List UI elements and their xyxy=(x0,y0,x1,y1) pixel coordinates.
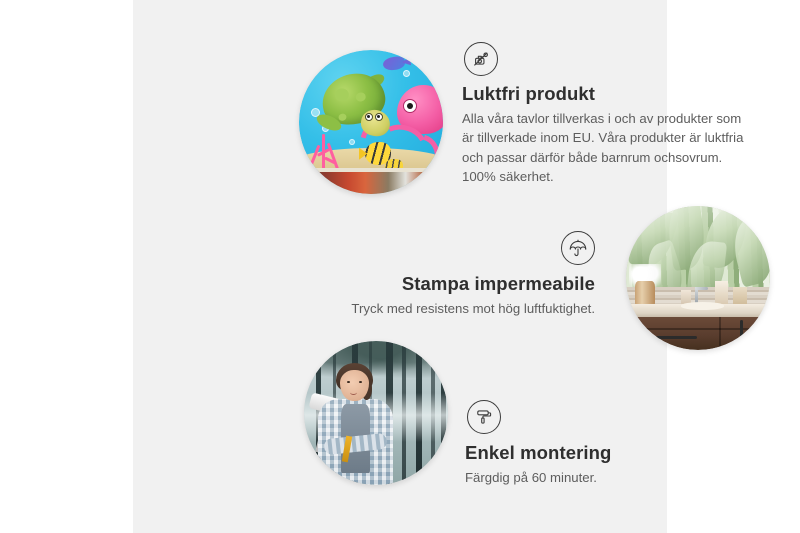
door-handle xyxy=(740,320,743,340)
umbrella-icon xyxy=(561,231,595,265)
icon-row xyxy=(323,231,595,265)
paint-roller-icon xyxy=(467,400,501,434)
tree-canopy xyxy=(304,341,448,378)
drawer-handle xyxy=(656,336,697,339)
feature-description: Tryck med resistens mot hög luftfuktighe… xyxy=(323,299,595,318)
feature-description: Färgdig på 60 minuter. xyxy=(465,468,725,487)
icon-row xyxy=(462,42,754,76)
feature-odor-free: Luktfri produkt Alla våra tavlor tillver… xyxy=(462,42,754,186)
photo-bottom-strip xyxy=(299,171,443,194)
icon-row xyxy=(465,400,725,434)
octopus-eye xyxy=(403,99,417,113)
faucet xyxy=(695,287,698,304)
photo-bathroom-tropical-wallpaper xyxy=(626,206,770,350)
feature-description: Alla våra tavlor tillverkas i och av pro… xyxy=(462,109,754,186)
photo-underwater-scene xyxy=(299,50,443,194)
bottle xyxy=(715,281,728,305)
photo-painter-forest-wallpaper xyxy=(304,341,448,485)
feature-title: Luktfri produkt xyxy=(462,83,754,105)
feature-title: Stampa impermeabile xyxy=(323,273,595,295)
vanity-cabinet xyxy=(635,317,770,350)
person-smile xyxy=(350,390,357,395)
infographic-canvas: Luktfri produkt Alla våra tavlor tillver… xyxy=(0,0,800,533)
sink-basin xyxy=(681,302,724,309)
feature-easy-mounting: Enkel montering Färgdig på 60 minuter. xyxy=(465,400,725,487)
bubble-icon xyxy=(403,70,410,77)
feature-panel: Luktfri produkt Alla våra tavlor tillver… xyxy=(133,0,667,533)
no-fragrance-icon xyxy=(464,42,498,76)
feature-title: Enkel montering xyxy=(465,442,725,464)
feature-waterproof-print: Stampa impermeabile Tryck med resistens … xyxy=(323,231,595,318)
